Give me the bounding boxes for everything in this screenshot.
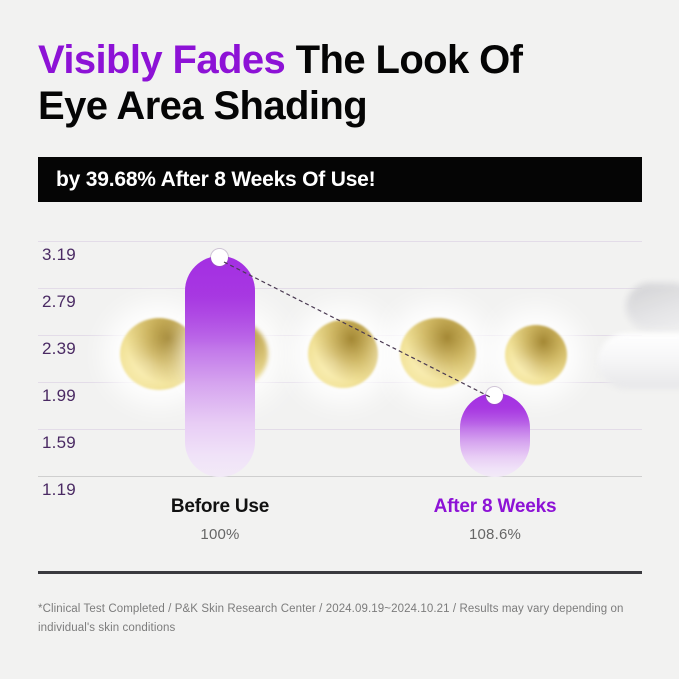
gridline-1-59 (38, 429, 642, 430)
xaxis-percent-before-use: 100% (140, 526, 300, 543)
gold-sphere-decor-3 (308, 320, 378, 388)
gold-sphere-decor-5 (505, 325, 567, 385)
product-cap-blur (626, 283, 679, 331)
infographic-page: Visibly Fades The Look Of Eye Area Shadi… (0, 0, 679, 679)
xaxis-label-before-use: Before Use (140, 496, 300, 518)
ytick-label-3: 1.99 (42, 386, 76, 406)
footer-divider (38, 571, 642, 574)
gridline-2-79 (38, 288, 642, 289)
footnote: *Clinical Test Completed / P&K Skin Rese… (38, 600, 638, 638)
xaxis-label-after-8-weeks: After 8 Weeks (415, 496, 575, 518)
data-point-marker-before (211, 249, 228, 266)
xaxis-percent-after-8-weeks: 108.6% (415, 526, 575, 543)
bar-before-use[interactable] (185, 256, 255, 477)
ytick-label-1: 2.79 (42, 292, 76, 312)
ytick-label-2: 2.39 (42, 339, 76, 359)
bar-after-8-weeks[interactable] (460, 393, 530, 477)
ytick-label-4: 1.59 (42, 433, 76, 453)
ytick-label-0: 3.19 (42, 245, 76, 265)
ytick-label-5: 1.19 (42, 480, 76, 500)
gold-sphere-decor-4 (400, 318, 476, 388)
bar-chart: 3.19 2.79 2.39 1.99 1.59 1.19 (0, 0, 679, 679)
data-point-marker-after (486, 387, 503, 404)
gridline-1-19 (38, 476, 642, 477)
product-body-blur (598, 333, 679, 389)
bar-before-use-glow (185, 256, 255, 349)
gridline-3-19 (38, 241, 642, 242)
footnote-line-1: *Clinical Test Completed / P&K Skin Rese… (38, 603, 607, 615)
